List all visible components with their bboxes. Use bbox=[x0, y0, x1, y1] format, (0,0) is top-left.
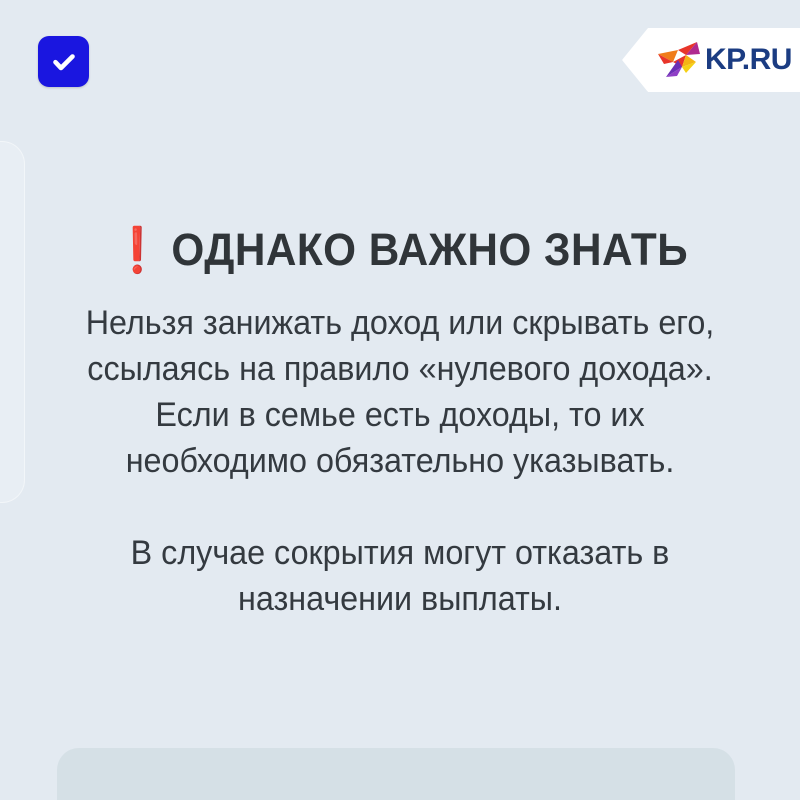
next-card-edge[interactable] bbox=[57, 748, 735, 800]
body-line: ссылаясь на правило «нулевого дохода». bbox=[20, 346, 780, 392]
exclamation-icon: ❗ bbox=[112, 226, 164, 275]
page-title: ❗ОДНАКО ВАЖНО ЗНАТЬ bbox=[24, 226, 776, 274]
body-line: В случае сокрытия могут отказать в bbox=[20, 530, 780, 576]
paragraph-spacer bbox=[20, 484, 780, 530]
slide-content: ❗ОДНАКО ВАЖНО ЗНАТЬ Нельзя занижать дохо… bbox=[0, 0, 800, 800]
slide-canvas: KP.RU ❗ОДНАКО ВАЖНО ЗНАТЬ Нельзя занижат… bbox=[0, 0, 800, 800]
body-line: необходимо обязательно указывать. bbox=[20, 438, 780, 484]
page-title-text: ОДНАКО ВАЖНО ЗНАТЬ bbox=[171, 224, 688, 275]
body-line: назначении выплаты. bbox=[20, 576, 780, 622]
body-line: Нельзя занижать доход или скрывать его, bbox=[20, 300, 780, 346]
body-text: Нельзя занижать доход или скрывать его, … bbox=[20, 300, 780, 622]
body-line: Если в семье есть доходы, то их bbox=[20, 392, 780, 438]
